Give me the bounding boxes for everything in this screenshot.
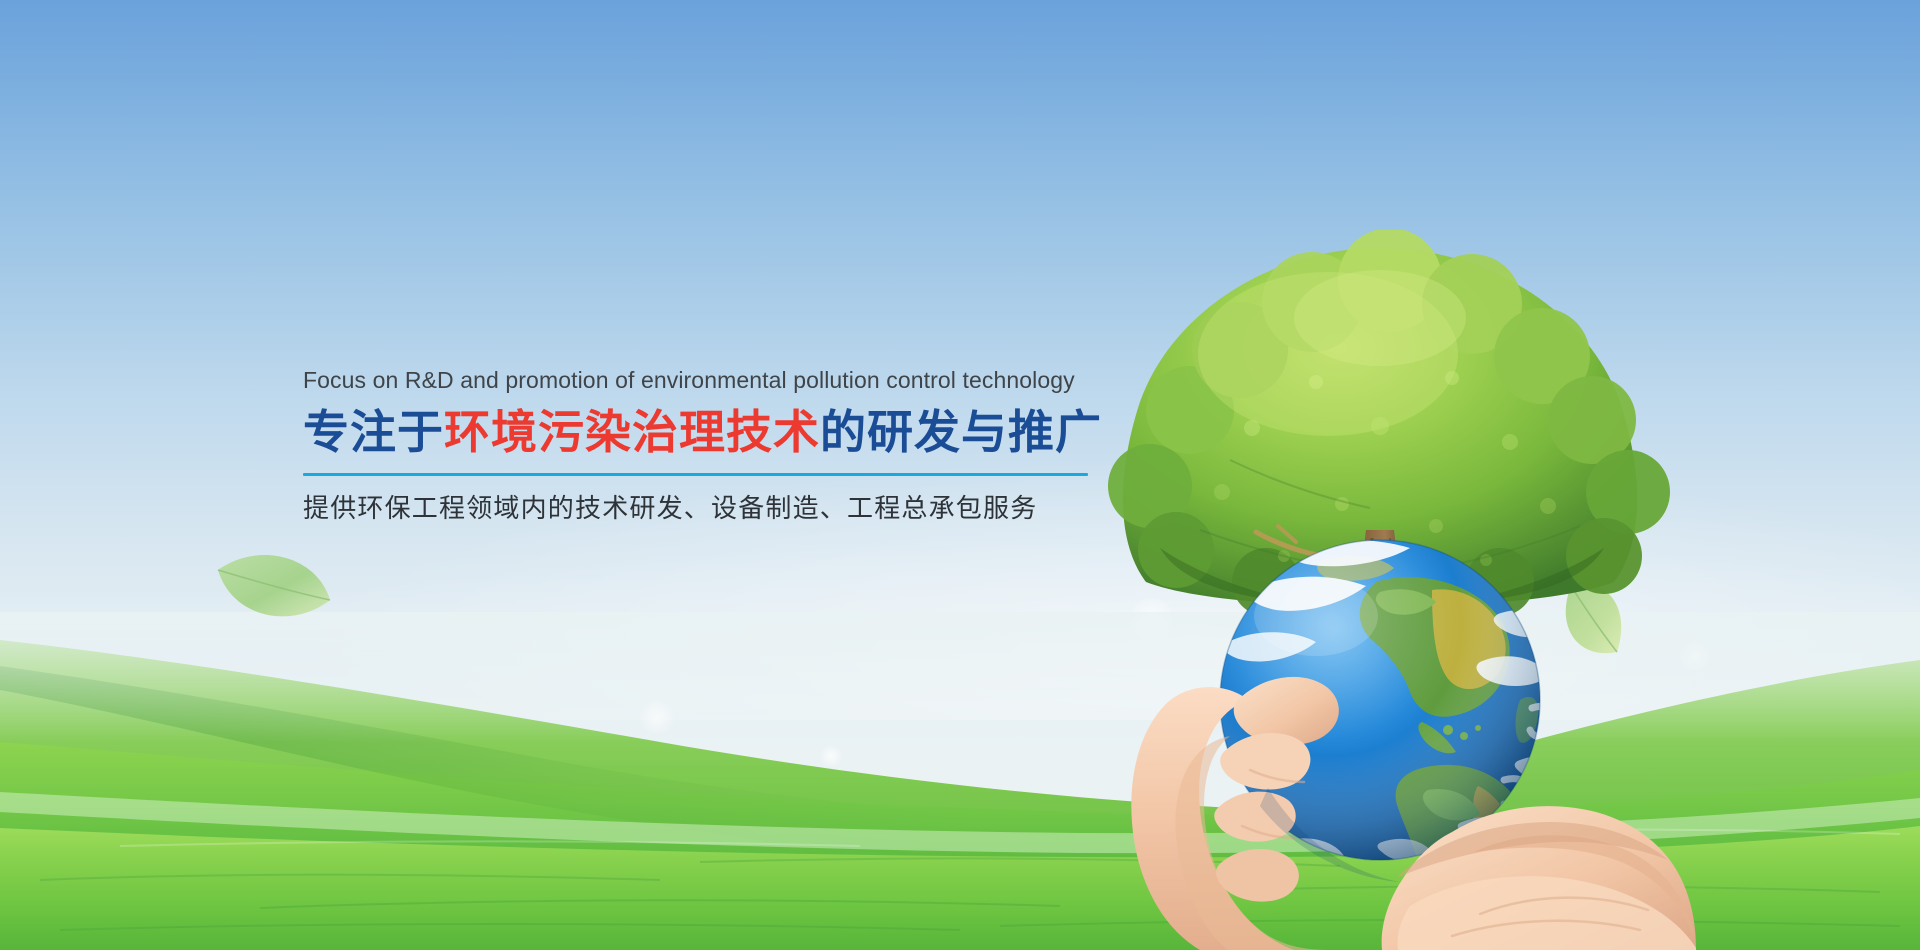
banner-headline: 专注于环境污染治理技术的研发与推广 xyxy=(303,405,1103,459)
headline-segment-2: 环境污染治理技术 xyxy=(444,405,820,459)
tree-globe-hands-illustration xyxy=(1080,230,1700,950)
banner-eyebrow: Focus on R&D and promotion of environmen… xyxy=(303,366,1103,395)
hero-banner: Focus on R&D and promotion of environmen… xyxy=(0,0,1920,950)
headline-segment-1: 专注于 xyxy=(303,405,444,459)
banner-copy: Focus on R&D and promotion of environmen… xyxy=(303,366,1103,527)
headline-divider xyxy=(303,473,1088,476)
decorative-leaf-left xyxy=(212,548,336,632)
banner-subline: 提供环保工程领域内的技术研发、设备制造、工程总承包服务 xyxy=(303,493,1103,527)
headline-segment-3: 的研发与推广 xyxy=(820,405,1102,459)
